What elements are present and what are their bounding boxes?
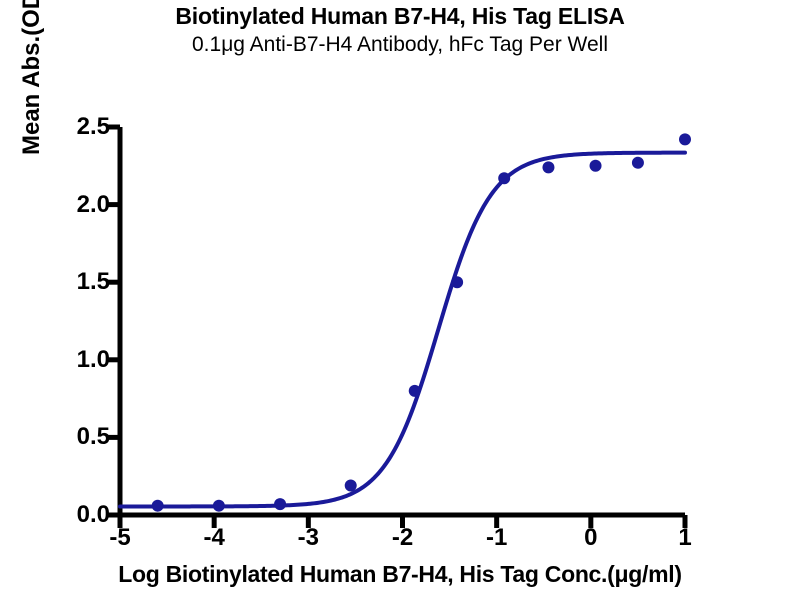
fit-curve: [120, 153, 685, 507]
data-point: [274, 498, 286, 510]
data-point: [632, 157, 644, 169]
data-point: [345, 480, 357, 492]
plot-area: [0, 0, 800, 600]
data-point: [213, 500, 225, 512]
data-point: [679, 133, 691, 145]
data-point: [451, 276, 463, 288]
data-point: [498, 172, 510, 184]
data-point: [542, 161, 554, 173]
axis-ticks: [107, 127, 685, 528]
data-point-group: [152, 133, 691, 511]
elisa-chart-figure: Biotinylated Human B7-H4, His Tag ELISA …: [0, 0, 800, 600]
data-point: [152, 500, 164, 512]
data-point: [590, 160, 602, 172]
axis-lines: [120, 127, 685, 515]
data-point: [409, 385, 421, 397]
